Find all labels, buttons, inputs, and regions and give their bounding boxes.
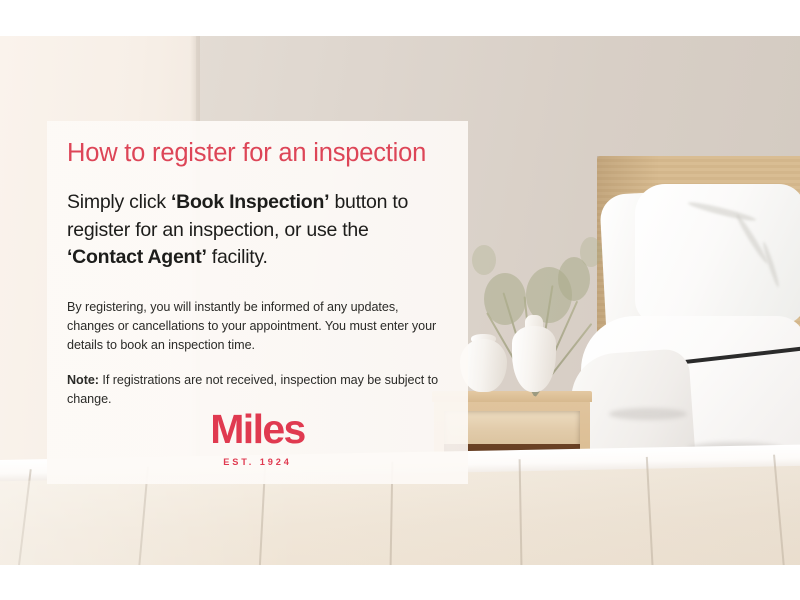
duvet-shadow <box>609 408 687 420</box>
contact-agent-label: ‘Contact Agent’ <box>67 246 207 268</box>
letterbox-bottom <box>0 565 800 600</box>
vase-large <box>512 326 556 392</box>
note-paragraph: Note: If registrations are not received,… <box>67 371 444 409</box>
pillow-crease <box>761 241 781 288</box>
book-inspection-label: ‘Book Inspection’ <box>171 191 329 213</box>
pillow-front <box>635 184 800 324</box>
information-card: How to register for an inspection Simply… <box>47 121 468 484</box>
note-text: If registrations are not received, inspe… <box>67 373 438 406</box>
screenshot-root: How to register for an inspection Simply… <box>0 0 800 600</box>
registration-details-paragraph: By registering, you will instantly be in… <box>67 298 444 355</box>
branch-foliage <box>472 245 496 275</box>
page-title: How to register for an inspection <box>67 139 444 167</box>
brand-logo: Miles EST. 1924 <box>47 409 468 467</box>
note-label: Note: <box>67 373 99 387</box>
pillow-crease <box>687 200 757 224</box>
instruction-part-1: Simply click <box>67 191 171 213</box>
instruction-part-3: facility. <box>207 246 268 268</box>
branch-foliage <box>580 237 602 267</box>
logo-established-text: EST. 1924 <box>47 457 468 467</box>
instruction-text: Simply click ‘Book Inspection’ button to… <box>67 189 444 272</box>
bedroom-photo: How to register for an inspection Simply… <box>0 36 800 565</box>
logo-wordmark: Miles <box>47 409 468 450</box>
card-content: How to register for an inspection Simply… <box>67 139 444 409</box>
letterbox-top <box>0 0 800 36</box>
branch-foliage <box>484 273 526 325</box>
